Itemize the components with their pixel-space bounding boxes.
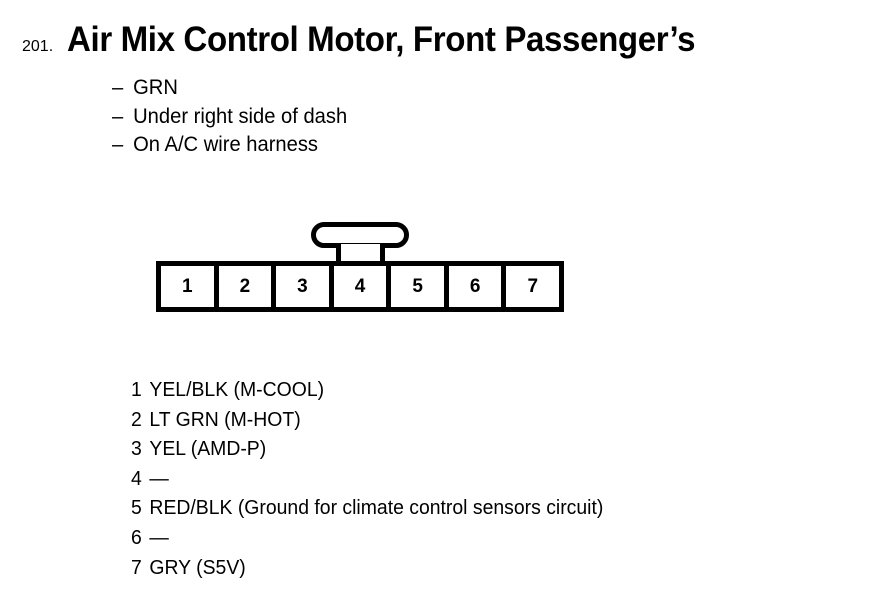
legend-pin-description: RED/BLK (Ground for climate control sens… [149,494,603,524]
legend-row: 6 — [131,524,603,554]
pin-cell-2: 2 [219,266,277,307]
legend-pin-number: 7 [131,554,149,584]
connector-pin-row: 1 2 3 4 5 6 7 [156,261,564,312]
legend-pin-number: 1 [131,376,149,406]
note-label: Under right side of dash [133,103,347,132]
pin-cell-6: 6 [449,266,507,307]
legend-pin-number: 5 [131,494,149,524]
note-item: – GRN [112,74,347,103]
legend-row: 5 RED/BLK (Ground for climate control se… [131,494,603,524]
legend-pin-description: YEL/BLK (M-COOL) [149,376,324,406]
pin-cell-4: 4 [334,266,392,307]
note-item: – On A/C wire harness [112,131,347,160]
pin-cell-1: 1 [161,266,219,307]
legend-row: 4 — [131,465,603,495]
legend-pin-description: — [149,465,168,495]
pin-cell-5: 5 [391,266,449,307]
page-title: 201. Air Mix Control Motor, Front Passen… [22,20,882,60]
pin-cell-3: 3 [276,266,334,307]
connector-diagram: 1 2 3 4 5 6 7 [156,222,566,314]
note-item: – Under right side of dash [112,103,347,132]
note-label: On A/C wire harness [133,131,318,160]
dash-marker-icon: – [112,103,133,132]
dash-marker-icon: – [112,74,133,103]
legend-pin-number: 3 [131,435,149,465]
legend-row: 3 YEL (AMD-P) [131,435,603,465]
legend-pin-description: LT GRN (M-HOT) [149,406,300,436]
title-number: 201. [22,38,53,56]
legend-pin-description: — [149,524,168,554]
legend-pin-number: 6 [131,524,149,554]
note-label: GRN [133,74,178,103]
legend-pin-number: 4 [131,465,149,495]
notes-list: – GRN – Under right side of dash – On A/… [112,74,357,160]
legend-row: 7 GRY (S5V) [131,554,603,584]
pin-legend: 1 YEL/BLK (M-COOL) 2 LT GRN (M-HOT) 3 YE… [131,376,618,583]
legend-pin-description: YEL (AMD-P) [149,435,266,465]
legend-pin-number: 2 [131,406,149,436]
title-text: Air Mix Control Motor, Front Passenger’s [67,20,695,60]
dash-marker-icon: – [112,131,133,160]
pin-cell-7: 7 [506,266,559,307]
legend-pin-description: GRY (S5V) [149,554,245,584]
legend-row: 2 LT GRN (M-HOT) [131,406,603,436]
legend-row: 1 YEL/BLK (M-COOL) [131,376,603,406]
